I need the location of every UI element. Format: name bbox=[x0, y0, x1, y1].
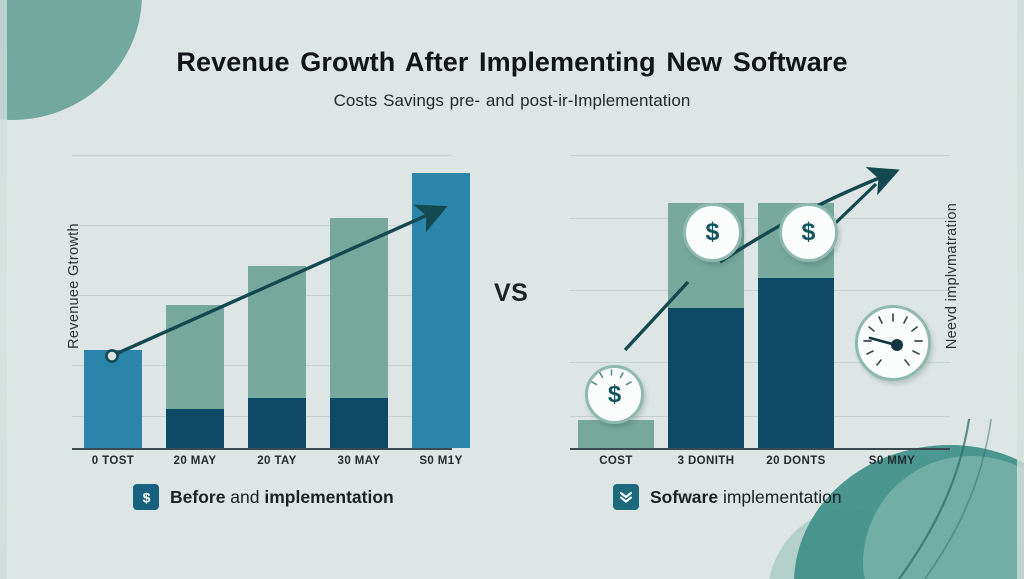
header: Revenue Growth After Implementing New So… bbox=[0, 48, 1024, 111]
legend-left-bold2: implementation bbox=[264, 487, 393, 507]
legend-right-bold: Sofware bbox=[650, 487, 718, 507]
legend-software-implementation[interactable]: Sofware implementation bbox=[613, 484, 842, 510]
x-tick-label: 20 MAY bbox=[174, 455, 217, 467]
download-stack-badge-icon bbox=[613, 484, 639, 510]
left-x-tick-labels: 0 TOST 20 MAY 20 TAY 30 MAY S0 M1Y bbox=[72, 455, 452, 473]
page-subtitle: Costs Savings pre- and post-ir-Implement… bbox=[0, 91, 1024, 111]
dollar-glyph: $ bbox=[706, 218, 720, 247]
decorative-blob-bottom-right-2 bbox=[863, 456, 1024, 579]
dollar-coin-icon: $ bbox=[779, 203, 838, 262]
x-tick-label: S0 M1Y bbox=[419, 455, 462, 467]
x-tick-label: 30 MAY bbox=[338, 455, 381, 467]
x-tick-label: 0 TOST bbox=[92, 455, 134, 467]
dollar-coin-icon: $ bbox=[683, 203, 742, 262]
x-tick-label: COST bbox=[599, 455, 633, 467]
page-title: Revenue Growth After Implementing New So… bbox=[0, 48, 1024, 78]
x-tick-label: S0 MMY bbox=[869, 455, 916, 467]
x-tick-label: 20 TAY bbox=[257, 455, 296, 467]
dollar-badge-icon: $ bbox=[133, 484, 159, 510]
legend-left-bold: Before bbox=[170, 487, 225, 507]
legend-left-text: Before and implementation bbox=[170, 487, 394, 508]
vs-divider-label: VS bbox=[494, 279, 528, 308]
trend-start-marker bbox=[106, 350, 117, 361]
svg-text:$: $ bbox=[142, 489, 150, 505]
legend-right-text: Sofware implementation bbox=[650, 487, 842, 508]
legend-right-rest: implementation bbox=[718, 487, 842, 507]
decorative-blob-back bbox=[767, 509, 932, 579]
dollar-glyph: $ bbox=[802, 218, 816, 247]
left-trend-arrow bbox=[72, 150, 472, 450]
infographic-canvas: Revenue Growth After Implementing New So… bbox=[0, 0, 1024, 579]
right-x-tick-labels: COST 3 DONITH 20 DONTS S0 MMY bbox=[570, 455, 950, 473]
x-tick-label: 20 DONTS bbox=[766, 455, 825, 467]
legend-left-rest: and bbox=[225, 487, 264, 507]
dollar-coin-icon: $ bbox=[585, 365, 644, 424]
gauge-icon bbox=[855, 305, 931, 381]
left-chart-panel: 0 TOST 20 MAY 20 TAY 30 MAY S0 M1Y Reven… bbox=[72, 150, 452, 450]
legend-before-implementation[interactable]: $ Before and implementation bbox=[133, 484, 394, 510]
x-tick-label: 3 DONITH bbox=[678, 455, 735, 467]
